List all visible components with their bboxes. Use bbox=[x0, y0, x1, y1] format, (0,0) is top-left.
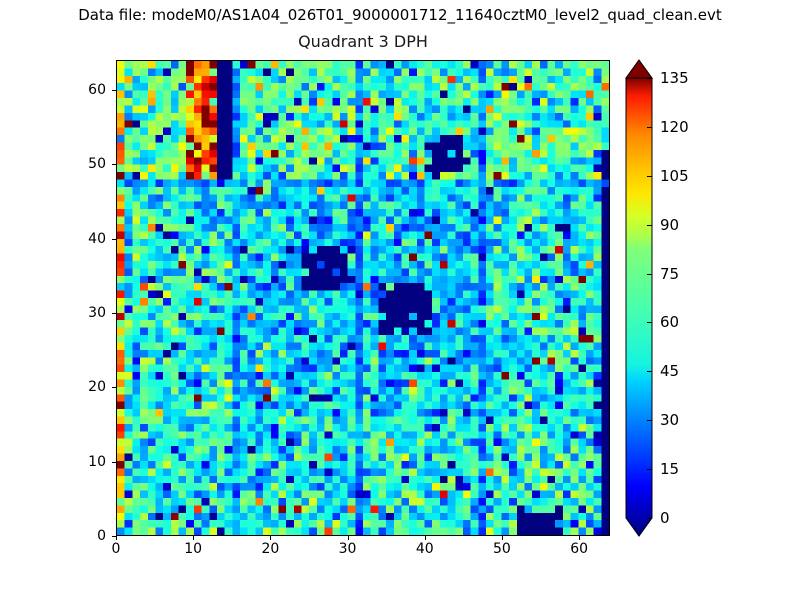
x-tick-mark bbox=[270, 536, 271, 540]
x-tick-mark bbox=[502, 536, 503, 540]
colorbar-tick-label: 90 bbox=[660, 216, 679, 234]
heatmap-image bbox=[117, 61, 609, 535]
colorbar-tick-mark bbox=[647, 371, 652, 372]
colorbar-tick-label: 120 bbox=[660, 118, 689, 136]
x-tick-mark bbox=[193, 536, 194, 540]
y-tick-mark bbox=[112, 90, 116, 91]
colorbar-tick-label: 45 bbox=[660, 362, 679, 380]
x-tick-label: 0 bbox=[112, 541, 121, 557]
colorbar-tick-mark bbox=[647, 176, 652, 177]
figure-suptitle: Data file: modeM0/AS1A04_026T01_90000017… bbox=[0, 6, 800, 24]
y-tick-mark bbox=[112, 313, 116, 314]
colorbar-gradient bbox=[626, 60, 652, 536]
colorbar-tick-label: 15 bbox=[660, 460, 679, 478]
y-tick-label: 60 bbox=[56, 82, 106, 98]
y-tick-label: 20 bbox=[56, 379, 106, 395]
y-tick-label: 0 bbox=[56, 528, 106, 544]
colorbar-tick-mark bbox=[647, 322, 652, 323]
colorbar-tick-mark bbox=[647, 225, 652, 226]
y-tick-label: 10 bbox=[56, 454, 106, 470]
y-tick-mark bbox=[112, 462, 116, 463]
colorbar-tick-label: 60 bbox=[660, 313, 679, 331]
colorbar-tick-mark bbox=[647, 518, 652, 519]
y-tick-label: 50 bbox=[56, 156, 106, 172]
x-tick-mark bbox=[116, 536, 117, 540]
x-tick-label: 50 bbox=[493, 541, 511, 557]
y-tick-mark bbox=[112, 239, 116, 240]
x-tick-label: 30 bbox=[339, 541, 357, 557]
x-tick-mark bbox=[348, 536, 349, 540]
colorbar-tick-mark bbox=[647, 274, 652, 275]
colorbar-tick-mark bbox=[647, 469, 652, 470]
colorbar-tick-mark bbox=[647, 78, 652, 79]
y-tick-mark bbox=[112, 536, 116, 537]
heatmap-plot-area bbox=[116, 60, 610, 536]
colorbar-tick-label: 75 bbox=[660, 265, 679, 283]
colorbar-tick-label: 105 bbox=[660, 167, 689, 185]
x-tick-label: 10 bbox=[184, 541, 202, 557]
x-tick-label: 40 bbox=[416, 541, 434, 557]
x-tick-label: 60 bbox=[570, 541, 588, 557]
y-tick-label: 30 bbox=[56, 305, 106, 321]
y-tick-mark bbox=[112, 387, 116, 388]
matplotlib-figure: Data file: modeM0/AS1A04_026T01_90000017… bbox=[0, 0, 800, 600]
colorbar-tick-mark bbox=[647, 420, 652, 421]
x-tick-mark bbox=[425, 536, 426, 540]
colorbar-tick-label: 30 bbox=[660, 411, 679, 429]
colorbar-tick-label: 0 bbox=[660, 509, 670, 527]
y-tick-mark bbox=[112, 164, 116, 165]
colorbar-tick-mark bbox=[647, 127, 652, 128]
x-tick-mark bbox=[579, 536, 580, 540]
plot-title: Quadrant 3 DPH bbox=[116, 32, 610, 51]
y-tick-label: 40 bbox=[56, 231, 106, 247]
colorbar-tick-label: 135 bbox=[660, 69, 689, 87]
colorbar bbox=[626, 60, 652, 536]
x-tick-label: 20 bbox=[261, 541, 279, 557]
